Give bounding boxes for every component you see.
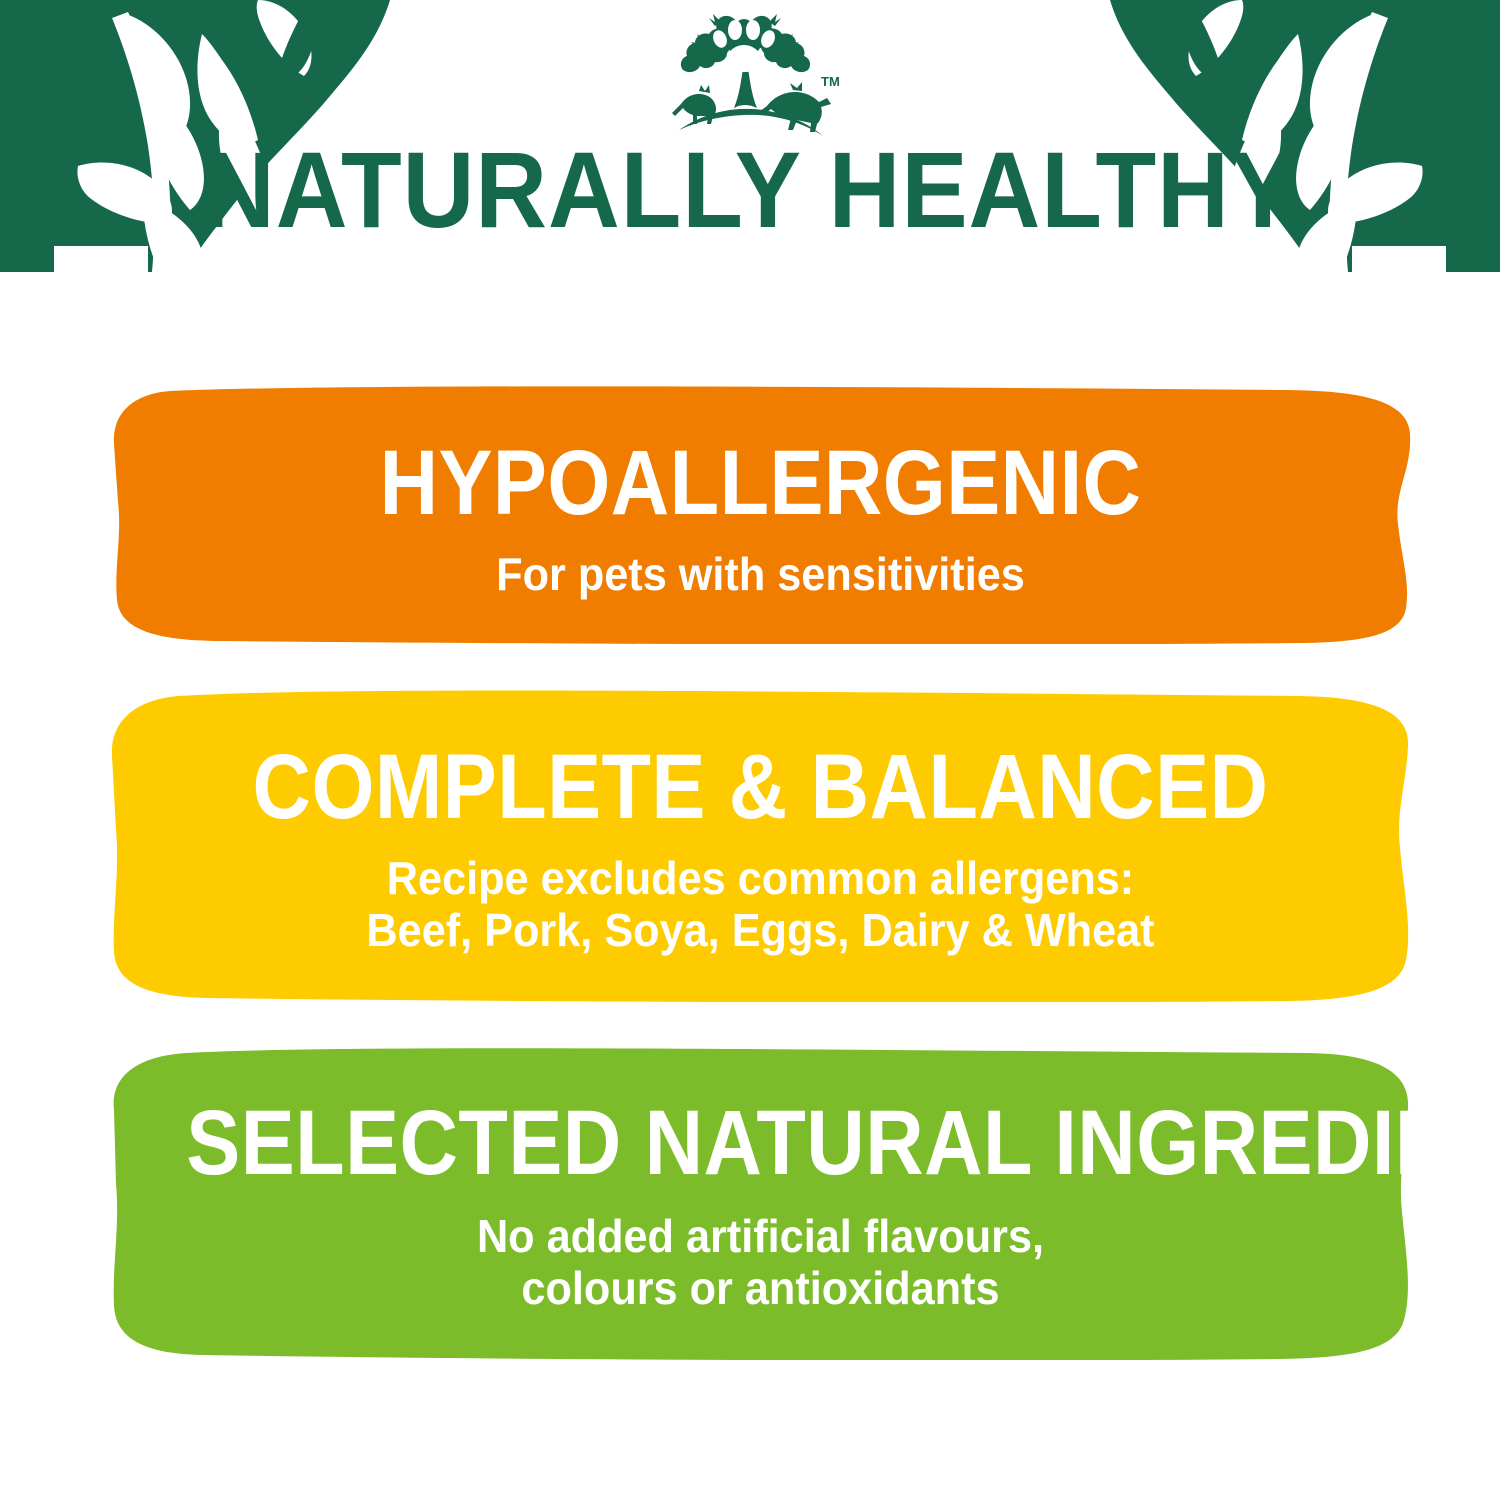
product-feature-infographic: TM NATURALLY HEALTHY HYPOALLERGENIC For … [0, 0, 1500, 1500]
feature-banner-complete-balanced: COMPLETE & BALANCED Recipe excludes comm… [108, 690, 1413, 1002]
header-band: TM NATURALLY HEALTHY [0, 0, 1500, 272]
banner-subtitle-line-1: Recipe excludes common allergens: [147, 853, 1374, 905]
trademark-symbol: TM [821, 74, 840, 89]
banner-subtitle-line-2: colours or antioxidants [147, 1263, 1374, 1315]
banner-subtitle-line-1: For pets with sensitivities [147, 549, 1374, 601]
banner-subtitle-line-2: Beef, Pork, Soya, Eggs, Dairy & Wheat [147, 905, 1374, 957]
banner-heading-selected-natural: SELECTED NATURAL INGREDIENTS [186, 1097, 1334, 1189]
page-title: NATURALLY HEALTHY [60, 136, 1440, 244]
banner-heading-hypoallergenic: HYPOALLERGENIC [186, 437, 1334, 529]
tree-paw-logo-icon: TM [645, 12, 855, 140]
feature-banner-hypoallergenic: HYPOALLERGENIC For pets with sensitiviti… [108, 386, 1413, 644]
feature-banner-selected-natural-ingredients: SELECTED NATURAL INGREDIENTS No added ar… [108, 1048, 1413, 1360]
banner-heading-complete-balanced: COMPLETE & BALANCED [186, 741, 1334, 833]
banner-subtitle-line-1: No added artificial flavours, [147, 1211, 1374, 1263]
